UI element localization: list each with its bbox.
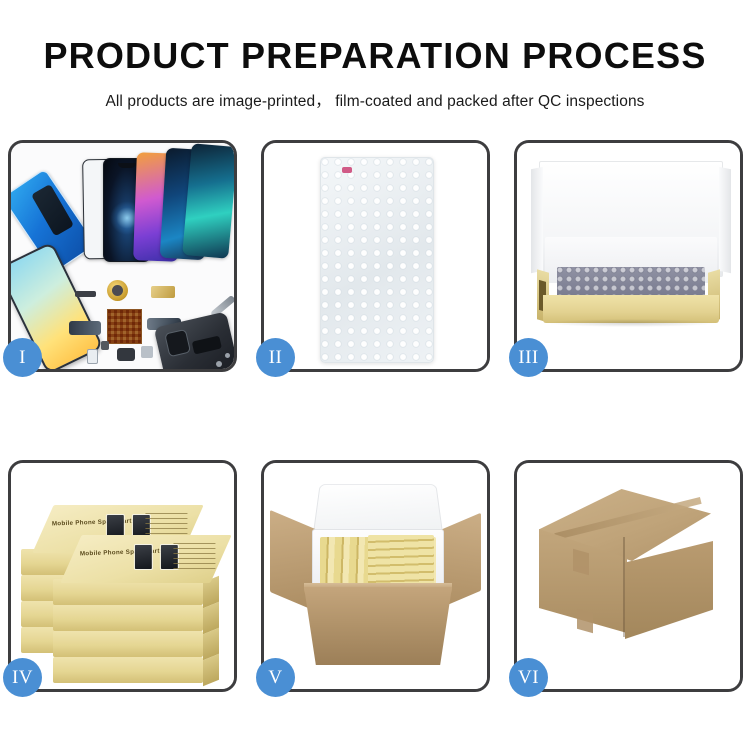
header: PRODUCT PREPARATION PROCESS All products…	[0, 0, 750, 111]
stacked-box-edge	[53, 605, 203, 631]
process-step-panel-3: III	[514, 140, 743, 372]
gold-bracket-part-icon	[151, 286, 175, 298]
small-chip-part-icon	[101, 341, 109, 350]
page-subtitle: All products are image-printed， film-coa…	[0, 74, 750, 111]
step-5-image	[264, 463, 487, 689]
step-badge-3: III	[509, 338, 548, 377]
carton-body-icon	[304, 587, 452, 665]
battery-connector-part-icon	[75, 291, 96, 297]
process-step-grid: I II	[8, 140, 742, 740]
step-2-image	[264, 143, 487, 369]
flex-cable-left-icon	[69, 321, 101, 335]
carton-tape-patch-icon	[577, 609, 593, 634]
teal-gradient-phone-icon	[182, 143, 234, 259]
screw-part-icon	[225, 353, 230, 358]
step-badge-1: I	[3, 338, 42, 377]
process-step-panel-1: I	[8, 140, 237, 372]
box-stack: Mobile Phone Spare Parts Mobile Phone Sp…	[17, 487, 233, 677]
vibrator-part-icon	[141, 346, 153, 358]
page-title: PRODUCT PREPARATION PROCESS	[0, 0, 750, 74]
box-screen-graphic	[134, 544, 153, 570]
screw-part-icon	[216, 361, 222, 367]
second-box-lid: Mobile Phone Spare Parts	[60, 535, 231, 583]
carton-tape-patch-icon	[573, 549, 589, 576]
sim-tray-part-icon	[87, 349, 98, 364]
speaker-coil-part-icon	[107, 280, 128, 301]
bubble-wrap-bag-icon	[320, 157, 434, 363]
stacked-box-edge	[53, 631, 203, 657]
process-step-panel-5: V	[261, 460, 490, 692]
process-step-panel-6: VI	[514, 460, 743, 692]
camera-module-part-icon	[117, 348, 135, 361]
carton-vertical-edge	[623, 537, 625, 637]
process-step-panel-4: Mobile Phone Spare Parts Mobile Phone Sp…	[8, 460, 237, 692]
step-6-image	[517, 463, 740, 689]
box-spec-lines	[173, 543, 215, 573]
step-3-image	[517, 143, 740, 369]
stacked-box-edge	[53, 657, 203, 683]
step-badge-6: VI	[509, 658, 548, 697]
step-4-image: Mobile Phone Spare Parts Mobile Phone Sp…	[11, 463, 234, 689]
box-shadow	[547, 319, 715, 327]
step-badge-5: V	[256, 658, 295, 697]
product-preparation-infographic: PRODUCT PREPARATION PROCESS All products…	[0, 0, 750, 750]
screw-grid-part-icon	[107, 309, 142, 344]
process-step-panel-2: II	[261, 140, 490, 372]
step-1-image	[11, 143, 234, 369]
step-badge-2: II	[256, 338, 295, 377]
yellow-boxes-group-icon	[368, 535, 434, 585]
pink-label-sticker-icon	[342, 167, 352, 173]
step-badge-4: IV	[3, 658, 42, 697]
